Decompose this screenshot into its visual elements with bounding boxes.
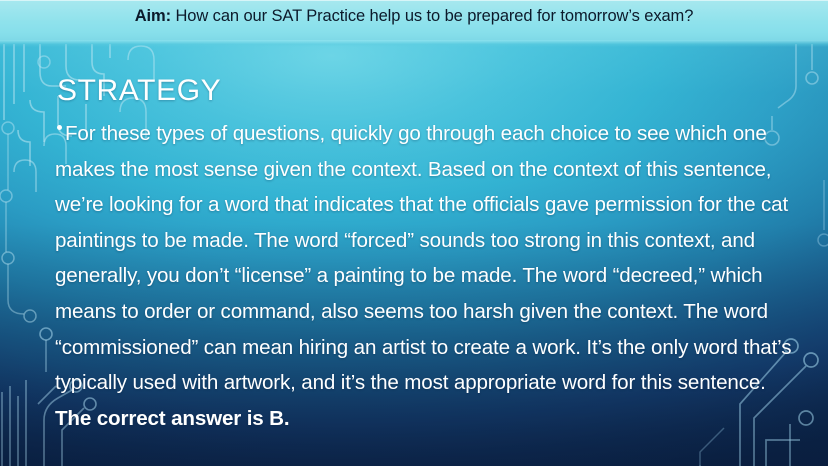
strategy-paragraph: For these types of questions, quickly go…: [55, 116, 795, 436]
header-underglow: [0, 40, 828, 47]
bullet-icon: [57, 125, 62, 130]
aim-label: Aim:: [135, 7, 171, 25]
paragraph-text: For these types of questions, quickly go…: [55, 122, 791, 394]
aim-line: Aim: How can our SAT Practice help us to…: [0, 7, 828, 26]
correct-answer-text: The correct answer is B.: [55, 407, 289, 430]
body-content: For these types of questions, quickly go…: [55, 116, 795, 436]
page-title: STRATEGY: [57, 74, 221, 108]
slide-canvas: Aim: How can our SAT Practice help us to…: [0, 0, 828, 466]
aim-question: How can our SAT Practice help us to be p…: [171, 7, 693, 25]
